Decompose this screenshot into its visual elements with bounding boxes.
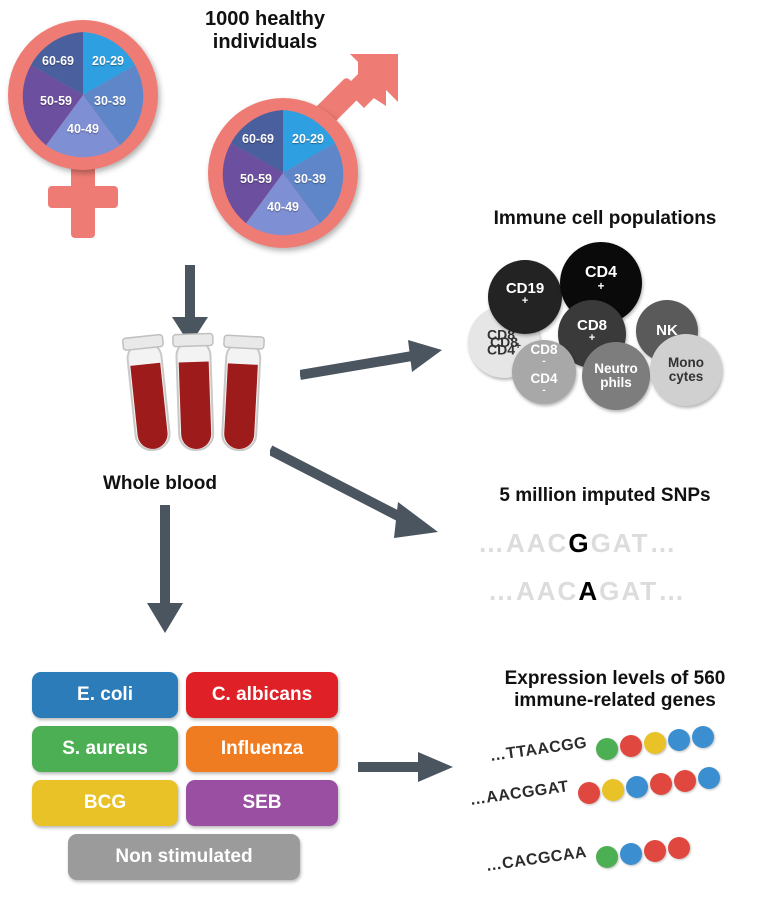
arrow-stimuli-to-expression — [358, 742, 468, 792]
cd8-label: CD8 — [577, 318, 607, 333]
stimulus-bcg[interactable]: BCG — [32, 780, 178, 826]
snp-sequence-block: …AACGGAT… …AACAGAT… — [478, 528, 748, 628]
female-slice-label-30-39: 30-39 — [82, 94, 138, 108]
male-slice-label-20-29: 20-29 — [280, 132, 336, 146]
gene-strand-3-sequence: …CACGCAA — [485, 844, 588, 876]
gene-dot-2-3 — [626, 776, 648, 798]
male-slice-label-40-49: 40-49 — [255, 200, 311, 214]
immune-cell-cluster: CD8 CD8+ CD4+ CD19+ CD4+ CD8+ NK — [460, 238, 760, 408]
stimulus-seb[interactable]: SEB — [186, 780, 338, 826]
gene-dot-1-5 — [692, 726, 714, 748]
neutrophils-label-line2: phils — [594, 376, 638, 390]
snp-prefix-1: …AAC — [478, 528, 568, 558]
gene-expression-panel: …TTAACGG …AACGGAT …CACGCAA — [468, 718, 768, 898]
cd4-sup: + — [598, 281, 605, 293]
stimulus-calbicans[interactable]: C. albicans — [186, 672, 338, 718]
gene-strand-1-sequence: …TTAACGG — [489, 734, 588, 765]
cd8n-label: CD8 — [530, 343, 557, 357]
gene-dot-2-6 — [698, 767, 720, 789]
cd4-label: CD4 — [585, 265, 617, 281]
blood-tubes — [110, 330, 290, 470]
female-stem-horizontal — [48, 186, 118, 208]
female-slice-label-20-29: 20-29 — [80, 54, 136, 68]
male-slice-label-30-39: 30-39 — [282, 172, 338, 186]
arrow-blood-to-stimuli — [125, 505, 205, 645]
male-age-pie: 20-29 30-39 40-49 50-59 60-69 — [220, 110, 346, 236]
gene-dot-3-2 — [620, 843, 642, 865]
cd4n-sup: - — [542, 385, 545, 396]
gene-dot-1-2 — [620, 735, 642, 757]
section-title-expression: Expression levels of 560 immune-related … — [470, 668, 760, 712]
bubble-cd8p-cd4p-line1: CD8 — [490, 335, 518, 349]
female-slice-label-60-69: 60-69 — [30, 54, 86, 68]
snp-prefix-2: …AAC — [488, 576, 578, 606]
gene-dot-3-1 — [596, 846, 618, 868]
gene-dot-2-4 — [650, 773, 672, 795]
stimulus-ecoli[interactable]: E. coli — [32, 672, 178, 718]
label-whole-blood: Whole blood — [60, 473, 260, 495]
cd4n-label: CD4 — [530, 372, 557, 386]
bubble-monocytes: Mono cytes — [650, 334, 722, 406]
gene-dot-2-2 — [602, 779, 624, 801]
bubble-cd8n-cd4n: CD8- CD4- — [512, 340, 576, 404]
gene-dot-2-1 — [578, 782, 600, 804]
bubble-neutrophils: Neutro phils — [582, 342, 650, 410]
gene-dot-1-3 — [644, 732, 666, 754]
snp-sequence-row-1: …AACGGAT… — [478, 528, 678, 559]
figure-canvas: 1000 healthy individuals Immune cell pop… — [0, 0, 771, 922]
gene-dot-2-5 — [674, 770, 696, 792]
gene-dot-3-4 — [668, 837, 690, 859]
snp-suffix-1: GAT… — [591, 528, 678, 558]
monocytes-label-line1: Mono — [668, 356, 704, 370]
gene-dot-1-4 — [668, 729, 690, 751]
gene-strand-2-sequence: …AACGGAT — [469, 778, 570, 810]
female-age-pie: 20-29 30-39 40-49 50-59 60-69 — [20, 32, 146, 158]
arrow-blood-to-snps — [270, 440, 460, 560]
male-slice-label-60-69: 60-69 — [230, 132, 286, 146]
female-slice-label-50-59: 50-59 — [28, 94, 84, 108]
cd19-sup: + — [522, 295, 528, 307]
male-symbol: 20-29 30-39 40-49 50-59 60-69 — [198, 40, 418, 260]
section-title-immune: Immune cell populations — [455, 208, 755, 230]
cd8-sup: + — [589, 332, 595, 344]
snp-sequence-row-2: …AACAGAT… — [488, 576, 686, 607]
stimuli-panel: E. coli C. albicans S. aureus Influenza … — [32, 672, 342, 892]
cd8n-sup: - — [542, 356, 545, 367]
female-symbol: 20-29 30-39 40-49 50-59 60-69 — [8, 20, 178, 240]
neutrophils-label-line1: Neutro — [594, 362, 638, 376]
stimulus-saureus[interactable]: S. aureus — [32, 726, 178, 772]
snp-variant-2: A — [578, 576, 599, 606]
section-title-snps: 5 million imputed SNPs — [455, 485, 755, 507]
snp-suffix-2: GAT… — [599, 576, 686, 606]
gene-dot-3-3 — [644, 840, 666, 862]
arrow-blood-to-immune — [300, 320, 460, 390]
gene-dot-1-1 — [596, 738, 618, 760]
bubble-cd19: CD19+ — [488, 260, 562, 334]
cd19-label: CD19 — [506, 281, 544, 296]
male-slice-label-50-59: 50-59 — [228, 172, 284, 186]
female-slice-label-40-49: 40-49 — [55, 122, 111, 136]
monocytes-label-line2: cytes — [668, 370, 704, 384]
snp-variant-1: G — [568, 528, 590, 558]
stimulus-non-stimulated[interactable]: Non stimulated — [68, 834, 300, 880]
stimulus-influenza[interactable]: Influenza — [186, 726, 338, 772]
